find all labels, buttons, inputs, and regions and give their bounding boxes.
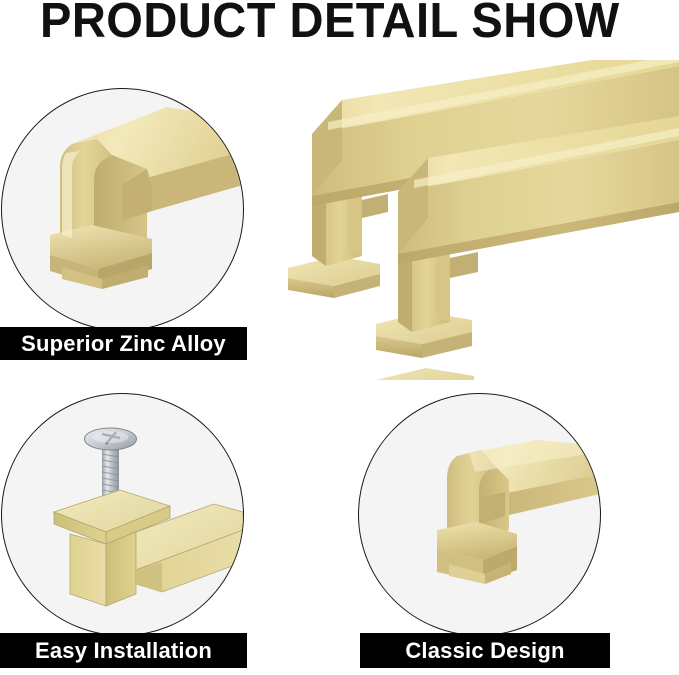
caption-easy-installation: Easy Installation <box>0 633 247 668</box>
detail-circle-classic <box>358 393 601 636</box>
pull-foot-closeup-icon <box>2 89 243 330</box>
product-detail-page: PRODUCT DETAIL SHOW <box>0 0 679 675</box>
pull-with-screw-icon <box>2 394 243 635</box>
detail-circle-install <box>1 393 244 636</box>
hero-product-image <box>276 60 679 380</box>
pull-corner-profile-icon <box>359 394 600 635</box>
page-title: PRODUCT DETAIL SHOW <box>40 0 578 48</box>
caption-superior-zinc-alloy: Superior Zinc Alloy <box>0 327 247 360</box>
caption-classic-design: Classic Design <box>360 633 610 668</box>
detail-circle-zinc <box>1 88 244 331</box>
